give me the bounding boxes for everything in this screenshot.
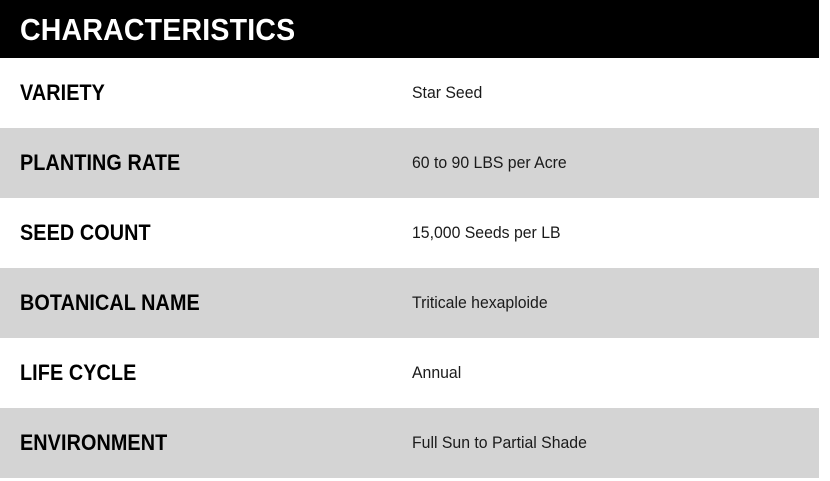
table-header: CHARACTERISTICS <box>0 0 819 58</box>
row-value-environment: Full Sun to Partial Shade <box>412 434 819 453</box>
row-label-text: PLANTING RATE <box>20 152 180 174</box>
row-label-text: LIFE CYCLE <box>20 362 136 384</box>
row-label-text: ENVIRONMENT <box>20 432 167 454</box>
row-value-text: Triticale hexaploide <box>412 294 548 313</box>
table-row: VARIETY Star Seed <box>0 58 819 128</box>
characteristics-table: CHARACTERISTICS VARIETY Star Seed PLANTI… <box>0 0 830 481</box>
row-label-seed-count: SEED COUNT <box>0 222 412 244</box>
table-body: VARIETY Star Seed PLANTING RATE 60 to 90… <box>0 58 830 478</box>
row-value-text: 15,000 Seeds per LB <box>412 224 561 243</box>
table-row: SEED COUNT 15,000 Seeds per LB <box>0 198 819 268</box>
row-value-text: Full Sun to Partial Shade <box>412 434 587 453</box>
table-row: ENVIRONMENT Full Sun to Partial Shade <box>0 408 819 478</box>
row-value-botanical-name: Triticale hexaploide <box>412 294 819 313</box>
row-value-text: 60 to 90 LBS per Acre <box>412 154 567 173</box>
row-value-life-cycle: Annual <box>412 364 819 383</box>
row-label-text: BOTANICAL NAME <box>20 292 200 314</box>
row-label-text: SEED COUNT <box>20 222 151 244</box>
row-value-planting-rate: 60 to 90 LBS per Acre <box>412 154 819 173</box>
row-value-seed-count: 15,000 Seeds per LB <box>412 224 819 243</box>
row-value-variety: Star Seed <box>412 84 819 103</box>
row-label-environment: ENVIRONMENT <box>0 432 412 454</box>
table-header-title: CHARACTERISTICS <box>20 14 295 45</box>
row-label-botanical-name: BOTANICAL NAME <box>0 292 412 314</box>
row-label-text: VARIETY <box>20 82 105 104</box>
row-value-text: Star Seed <box>412 84 482 103</box>
row-label-life-cycle: LIFE CYCLE <box>0 362 412 384</box>
row-value-text: Annual <box>412 364 461 383</box>
table-row: BOTANICAL NAME Triticale hexaploide <box>0 268 819 338</box>
row-label-variety: VARIETY <box>0 82 412 104</box>
table-row: LIFE CYCLE Annual <box>0 338 819 408</box>
row-label-planting-rate: PLANTING RATE <box>0 152 412 174</box>
table-row: PLANTING RATE 60 to 90 LBS per Acre <box>0 128 819 198</box>
